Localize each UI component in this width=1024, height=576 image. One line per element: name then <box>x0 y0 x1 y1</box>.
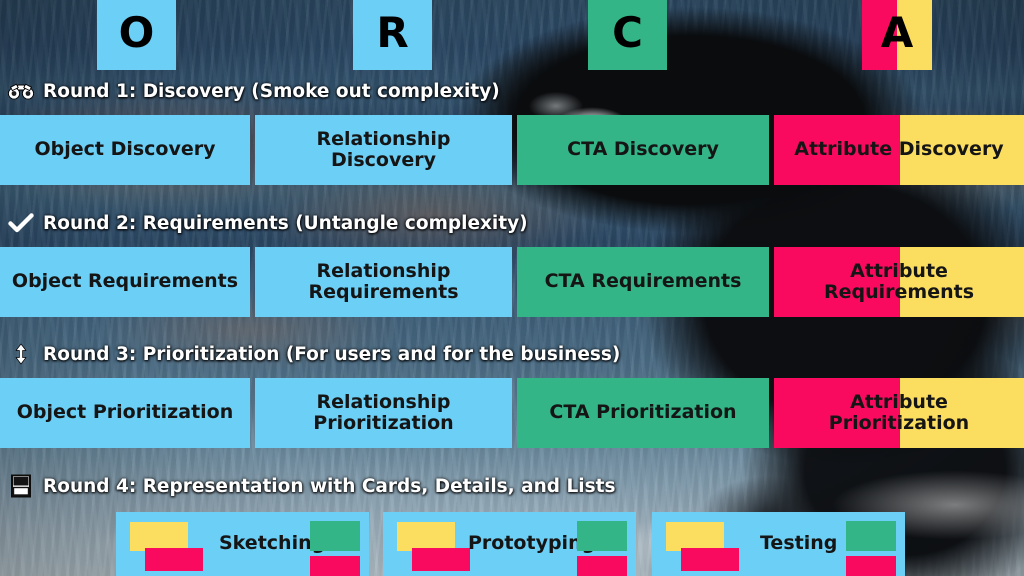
acronym-tile-c: C <box>588 0 667 70</box>
bar-object-requirements: Object Requirements <box>0 247 250 317</box>
acronym-letter-a: A <box>881 12 914 58</box>
bar-relationship-discovery: Relationship Discovery <box>255 115 512 185</box>
bar-label: Relationship Requirements <box>300 261 466 304</box>
bar-label: Attribute Prioritization <box>821 392 977 435</box>
bar-label: Object Prioritization <box>9 402 242 423</box>
bar-object-prioritization: Object Prioritization <box>0 378 250 448</box>
mini-green-rect <box>310 521 360 551</box>
bar-label: Relationship Prioritization <box>305 392 461 435</box>
acronym-tile-o: O <box>97 0 176 70</box>
round-1-heading-text: Round 1: Discovery (Smoke out complexity… <box>43 81 500 102</box>
rep-card-testing: Testing <box>652 512 905 576</box>
mini-pink-rect <box>577 556 627 576</box>
round-2-heading-text: Round 2: Requirements (Untangle complexi… <box>43 213 528 234</box>
acronym-tile-r: R <box>353 0 432 70</box>
acronym-letter-o: O <box>119 12 155 58</box>
bar-cta-discovery: CTA Discovery <box>517 115 769 185</box>
rep-card-sketching: Sketching <box>116 512 369 576</box>
mini-pink-rect <box>412 548 470 571</box>
mini-pink-rect <box>145 548 203 571</box>
mini-yellow-rect <box>397 522 455 551</box>
bar-label: CTA Prioritization <box>541 402 744 423</box>
mini-green-rect <box>846 521 896 551</box>
bar-attribute-discovery: Attribute Discovery <box>774 115 1024 185</box>
bar-cta-prioritization: CTA Prioritization <box>517 378 769 448</box>
rep-card-prototyping: Prototyping <box>383 512 636 576</box>
bar-attribute-prioritization: Attribute Prioritization <box>774 378 1024 448</box>
round-3-heading: Round 3: Prioritization (For users and f… <box>8 343 620 365</box>
round-3-heading-text: Round 3: Prioritization (For users and f… <box>43 344 620 365</box>
bar-relationship-requirements: Relationship Requirements <box>255 247 512 317</box>
round-2-heading: Round 2: Requirements (Untangle complexi… <box>8 212 528 234</box>
acronym-letter-r: R <box>376 12 408 58</box>
up-down-arrow-icon <box>8 343 34 365</box>
bar-label: Object Discovery <box>26 139 223 160</box>
bar-label: CTA Requirements <box>537 271 750 292</box>
card-icon <box>8 475 34 497</box>
rep-card-label: Testing <box>760 534 837 553</box>
bar-label: Attribute Discovery <box>786 139 1011 160</box>
bar-relationship-prioritization: Relationship Prioritization <box>255 378 512 448</box>
binoculars-icon <box>8 80 34 102</box>
bar-label: CTA Discovery <box>559 139 727 160</box>
acronym-tile-a: A <box>862 0 932 70</box>
mini-green-rect <box>577 521 627 551</box>
bar-object-discovery: Object Discovery <box>0 115 250 185</box>
round-1-heading: Round 1: Discovery (Smoke out complexity… <box>8 80 500 102</box>
mini-pink-rect <box>310 556 360 576</box>
slide-canvas: O R C A Round 1: D <box>0 0 1024 576</box>
round-4-heading: Round 4: Representation with Cards, Deta… <box>8 475 615 497</box>
bar-label: Attribute Requirements <box>816 261 982 304</box>
mini-pink-rect <box>681 548 739 571</box>
bar-label: Object Requirements <box>4 271 246 292</box>
acronym-letter-c: C <box>612 12 643 58</box>
checkmark-icon <box>8 212 34 234</box>
bar-label: Relationship Discovery <box>255 129 512 172</box>
round-4-heading-text: Round 4: Representation with Cards, Deta… <box>43 476 615 497</box>
mini-yellow-rect <box>130 522 188 551</box>
bar-attribute-requirements: Attribute Requirements <box>774 247 1024 317</box>
mini-pink-rect <box>846 556 896 576</box>
mini-yellow-rect <box>666 522 724 551</box>
bar-cta-requirements: CTA Requirements <box>517 247 769 317</box>
